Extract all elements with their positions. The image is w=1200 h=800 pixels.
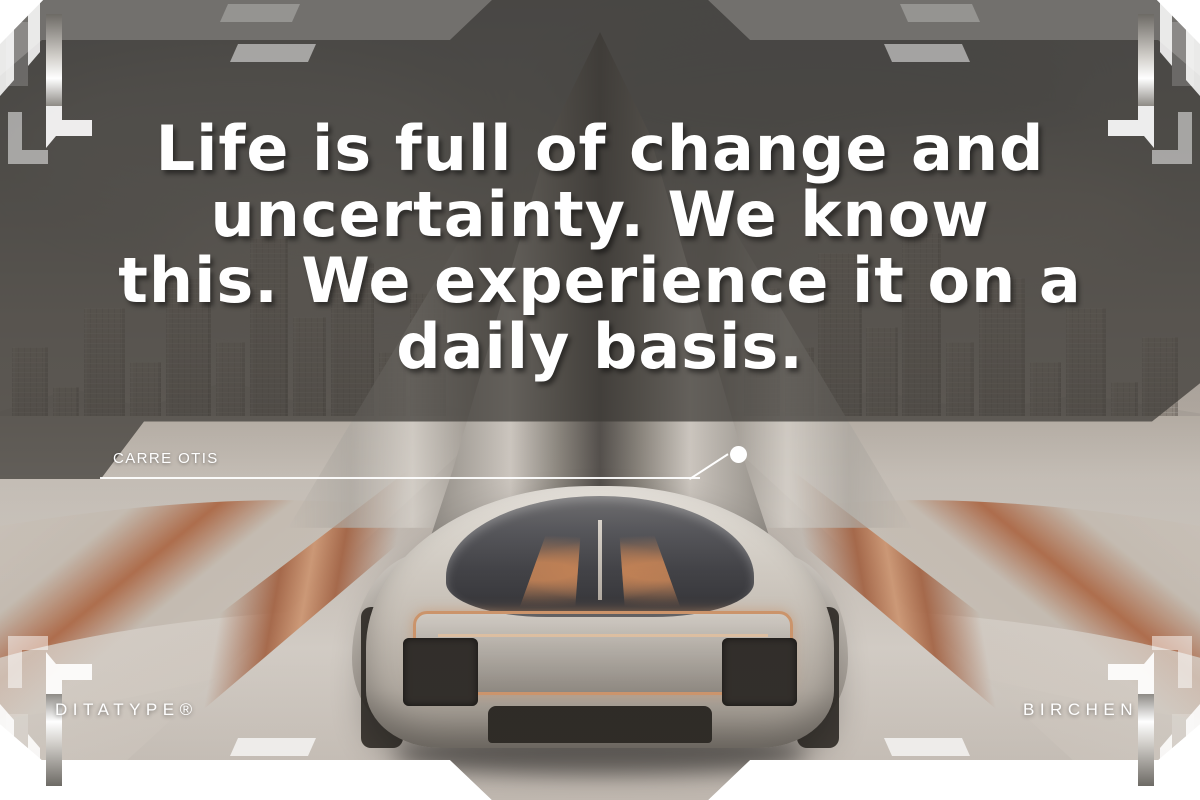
- quote-line-2: uncertainty. We know: [60, 182, 1140, 248]
- quote-line-3: this. We experience it on a: [60, 248, 1140, 314]
- attribution-leader: [690, 452, 730, 480]
- poster-canvas: Life is full of change and uncertainty. …: [0, 0, 1200, 800]
- quote-line-4: daily basis.: [60, 314, 1140, 380]
- quote-text: Life is full of change and uncertainty. …: [60, 116, 1140, 380]
- leader-dot-icon: [730, 446, 747, 463]
- leader-line: [689, 453, 729, 480]
- brand-label-right: BIRCHEN: [1023, 700, 1138, 720]
- brand-label-left: DITATYPE®: [55, 700, 198, 720]
- overlay-bottom-edge-line: [100, 477, 700, 479]
- quote-attribution: CARRE OTIS: [113, 450, 219, 467]
- quote-line-1: Life is full of change and: [60, 116, 1140, 182]
